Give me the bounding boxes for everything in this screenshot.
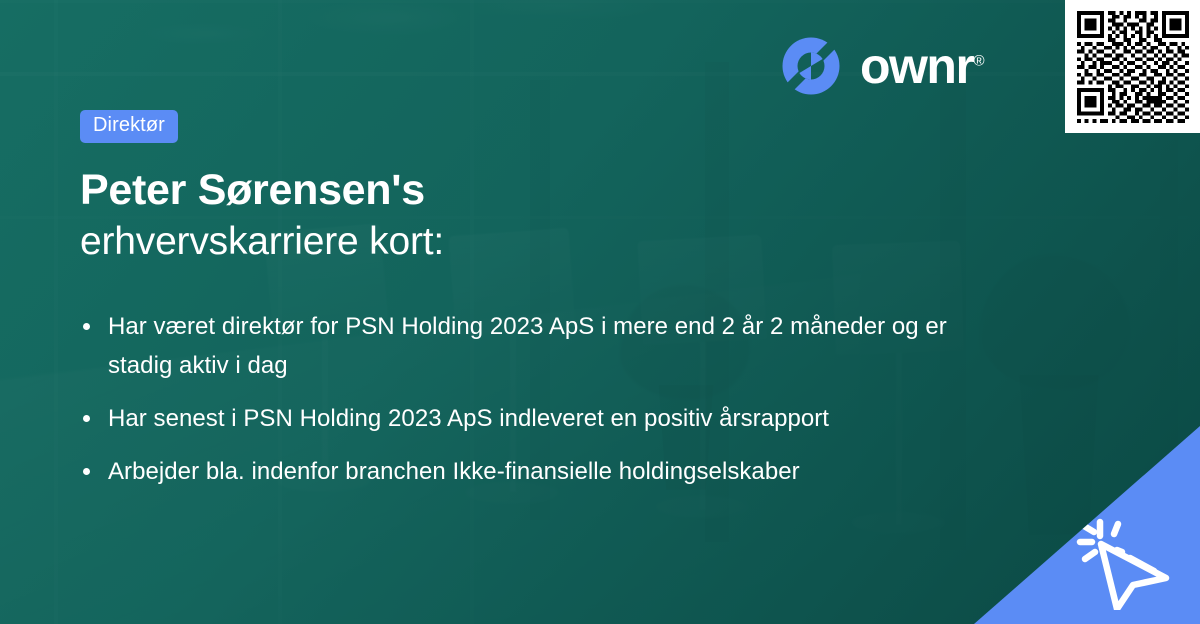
career-facts-list: Har været direktør for PSN Holding 2023 … — [80, 308, 960, 492]
career-fact-item: Har senest i PSN Holding 2023 ApS indlev… — [80, 400, 960, 439]
career-card: ownr® Direktør Peter Sørensen's erhvervs… — [0, 0, 1200, 624]
page-title-line-1: Peter Sørensen's — [80, 165, 960, 216]
career-fact-text: Arbejder bla. indenfor branchen Ikke-fin… — [108, 458, 800, 485]
ownr-logo[interactable]: ownr® — [778, 33, 985, 99]
career-fact-item: Arbejder bla. indenfor branchen Ikke-fin… — [80, 453, 960, 492]
qr-code-panel[interactable] — [1065, 0, 1200, 133]
career-fact-text: Har senest i PSN Holding 2023 ApS indlev… — [108, 405, 829, 432]
page-title-line-2: erhvervskarriere kort: — [80, 218, 960, 266]
bullet-dot-icon — [83, 415, 90, 422]
ownr-wordmark-text: ownr — [860, 38, 973, 94]
ownr-wordmark: ownr® — [860, 41, 985, 91]
headline-block: Direktør Peter Sørensen's erhvervskarrie… — [80, 110, 960, 265]
qr-code-icon — [1077, 11, 1189, 123]
career-fact-text: Har været direktør for PSN Holding 2023 … — [108, 313, 947, 379]
bullet-dot-icon — [83, 468, 90, 475]
page-title: Peter Sørensen's erhvervskarriere kort: — [80, 165, 960, 265]
bullet-dot-icon — [83, 323, 90, 330]
registered-trademark-icon: ® — [973, 52, 984, 69]
role-badge: Direktør — [80, 110, 178, 143]
career-fact-item: Har været direktør for PSN Holding 2023 … — [80, 308, 960, 386]
ownr-circle-swirl-icon — [778, 33, 844, 99]
